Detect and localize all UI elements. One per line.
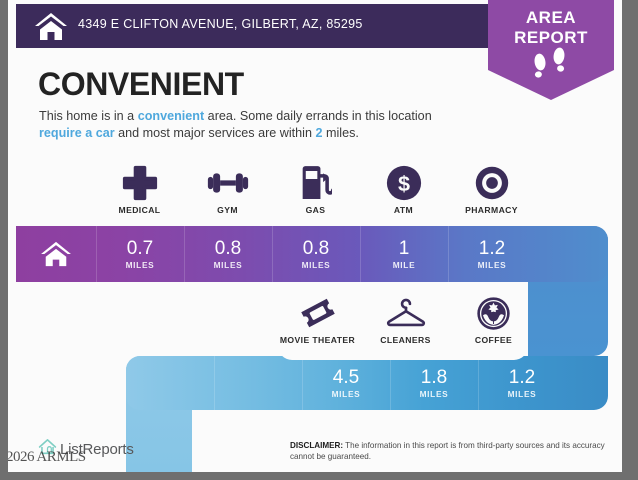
category-label: GAS — [272, 205, 359, 215]
summary-highlight-convenient: convenient — [138, 109, 204, 123]
report-page: 4349 E CLIFTON AVENUE, GILBERT, AZ, 8529… — [8, 0, 622, 472]
svg-text:$: $ — [397, 171, 409, 196]
distance-cell-pharmacy: 1.2 MILES — [448, 226, 536, 282]
medical-cross-icon — [96, 162, 183, 204]
page-title: CONVENIENT — [38, 66, 244, 103]
distance-unit: MILES — [214, 260, 243, 270]
distance-unit: MILE — [393, 260, 416, 270]
area-report-badge: AREA REPORT — [488, 0, 614, 100]
distance-value: 0.8 — [303, 239, 329, 259]
home-icon-segment — [16, 226, 96, 282]
category-label: CLEANERS — [362, 335, 449, 345]
distance-bar-2: 4.5 MILES 1.8 MILES 1.2 MILES — [126, 356, 608, 410]
distance-unit: MILES — [420, 389, 449, 399]
home-icon — [40, 240, 72, 268]
category-icon-cleaners: CLEANERS — [362, 292, 449, 345]
coffee-siren-icon — [450, 292, 537, 334]
distance-value: 0.7 — [127, 239, 153, 259]
home-icon — [34, 10, 68, 42]
distance-cell-gym: 0.8 MILES — [184, 226, 272, 282]
address-text: 4349 E CLIFTON AVENUE, GILBERT, AZ, 8529… — [78, 17, 363, 31]
distance-value: 0.8 — [215, 239, 241, 259]
summary-part-2: area. Some daily errands in this locatio… — [204, 109, 432, 123]
distance-cell-cleaners: 1.8 MILES — [390, 356, 478, 410]
category-icon-pharmacy: PHARMACY — [448, 162, 535, 215]
summary-highlight-car: require a car — [39, 126, 115, 140]
category-icons-row-1: MEDICAL GYM — [96, 162, 536, 224]
distance-cell-movie-theater: 4.5 MILES — [302, 356, 390, 410]
category-label: GYM — [184, 205, 271, 215]
category-icon-movie-theater: MOVIE THEATER — [274, 292, 361, 345]
category-label: COFFEE — [450, 335, 537, 345]
clothes-hanger-icon — [362, 292, 449, 334]
summary-part-4: miles. — [323, 126, 359, 140]
disclaimer-label: DISCLAIMER: — [290, 441, 343, 450]
category-icon-coffee: COFFEE — [450, 292, 537, 345]
category-icon-gas: GAS — [272, 162, 359, 215]
pharmacy-target-icon — [448, 162, 535, 204]
category-icons-row-2: MOVIE THEATER CLEANERS — [274, 292, 538, 354]
distance-cell-spacer-1 — [126, 356, 214, 410]
gas-pump-icon — [272, 162, 359, 204]
distance-unit: MILES — [302, 260, 331, 270]
summary-highlight-miles: 2 — [315, 126, 322, 140]
distance-cell-coffee: 1.2 MILES — [478, 356, 566, 410]
distance-value: 4.5 — [333, 368, 359, 388]
category-label: PHARMACY — [448, 205, 535, 215]
distance-unit: MILES — [508, 389, 537, 399]
summary-text: This home is in a convenient area. Some … — [39, 108, 459, 142]
category-icon-atm: $ ATM — [360, 162, 447, 215]
distance-value: 1.2 — [509, 368, 535, 388]
distance-cell-spacer-2 — [214, 356, 302, 410]
dumbbell-icon — [184, 162, 271, 204]
disclaimer: DISCLAIMER: The information in this repo… — [290, 440, 620, 462]
movie-ticket-icon — [274, 292, 361, 334]
dollar-circle-icon: $ — [360, 162, 447, 204]
distance-unit: MILES — [126, 260, 155, 270]
category-icon-medical: MEDICAL — [96, 162, 183, 215]
category-label: MEDICAL — [96, 205, 183, 215]
summary-part-1: This home is in a — [39, 109, 138, 123]
category-label: MOVIE THEATER — [274, 335, 361, 345]
category-icon-gym: GYM — [184, 162, 271, 215]
distance-value: 1 — [399, 239, 410, 259]
distance-unit: MILES — [332, 389, 361, 399]
category-label: ATM — [360, 205, 447, 215]
distance-value: 1.8 — [421, 368, 447, 388]
armls-watermark: 2026 ARMLS — [8, 449, 86, 466]
distance-bar-1: 0.7 MILES 0.8 MILES 0.8 MILES 1 MILE 1.2… — [16, 226, 608, 282]
distance-cell-gas: 0.8 MILES — [272, 226, 360, 282]
distance-unit: MILES — [478, 260, 507, 270]
distance-cell-atm: 1 MILE — [360, 226, 448, 282]
summary-part-3: and most major services are within — [115, 126, 316, 140]
distance-value: 1.2 — [479, 239, 505, 259]
distance-cell-medical: 0.7 MILES — [96, 226, 184, 282]
